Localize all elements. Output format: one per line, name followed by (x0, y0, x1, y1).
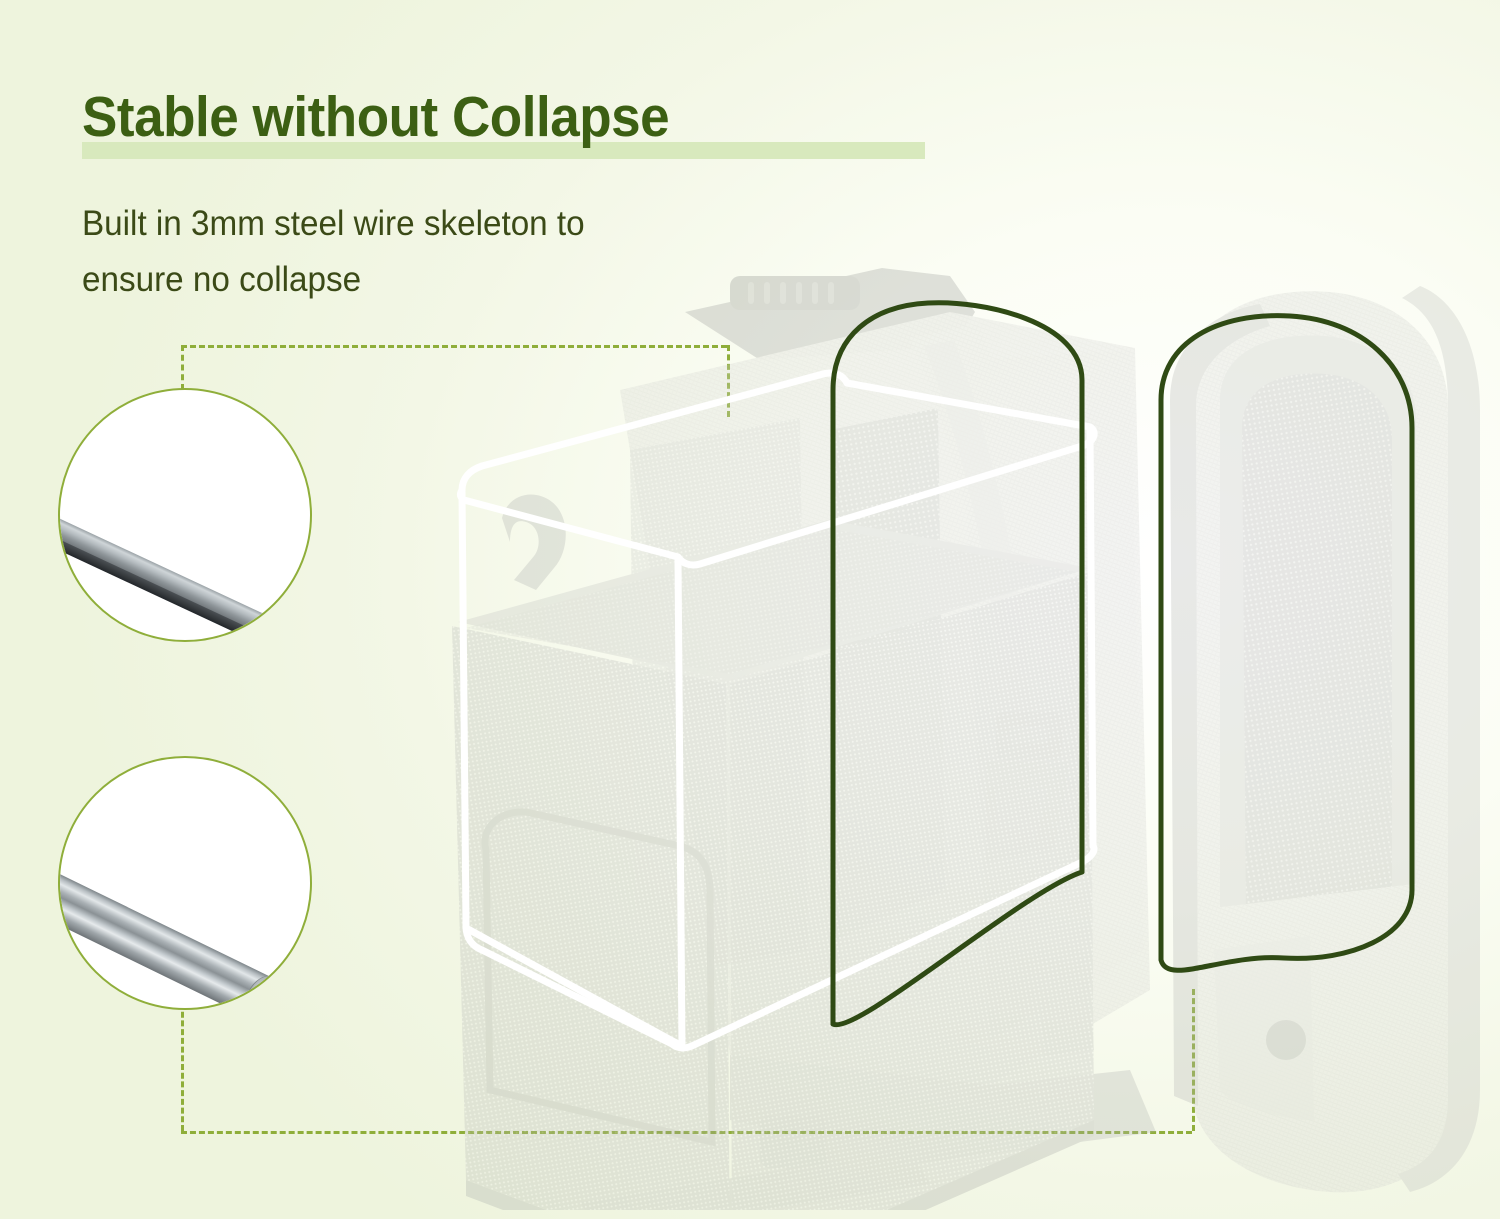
infographic-canvas: Stable without Collapse Built in 3mm ste… (0, 0, 1500, 1219)
back-panel-arch (1161, 316, 1412, 971)
expanded-compartment-arch (833, 303, 1082, 1025)
wireframe-box (460, 373, 1094, 1048)
callout-flat-steel-bar (58, 388, 312, 642)
callout-round-steel-rod (58, 756, 312, 1010)
